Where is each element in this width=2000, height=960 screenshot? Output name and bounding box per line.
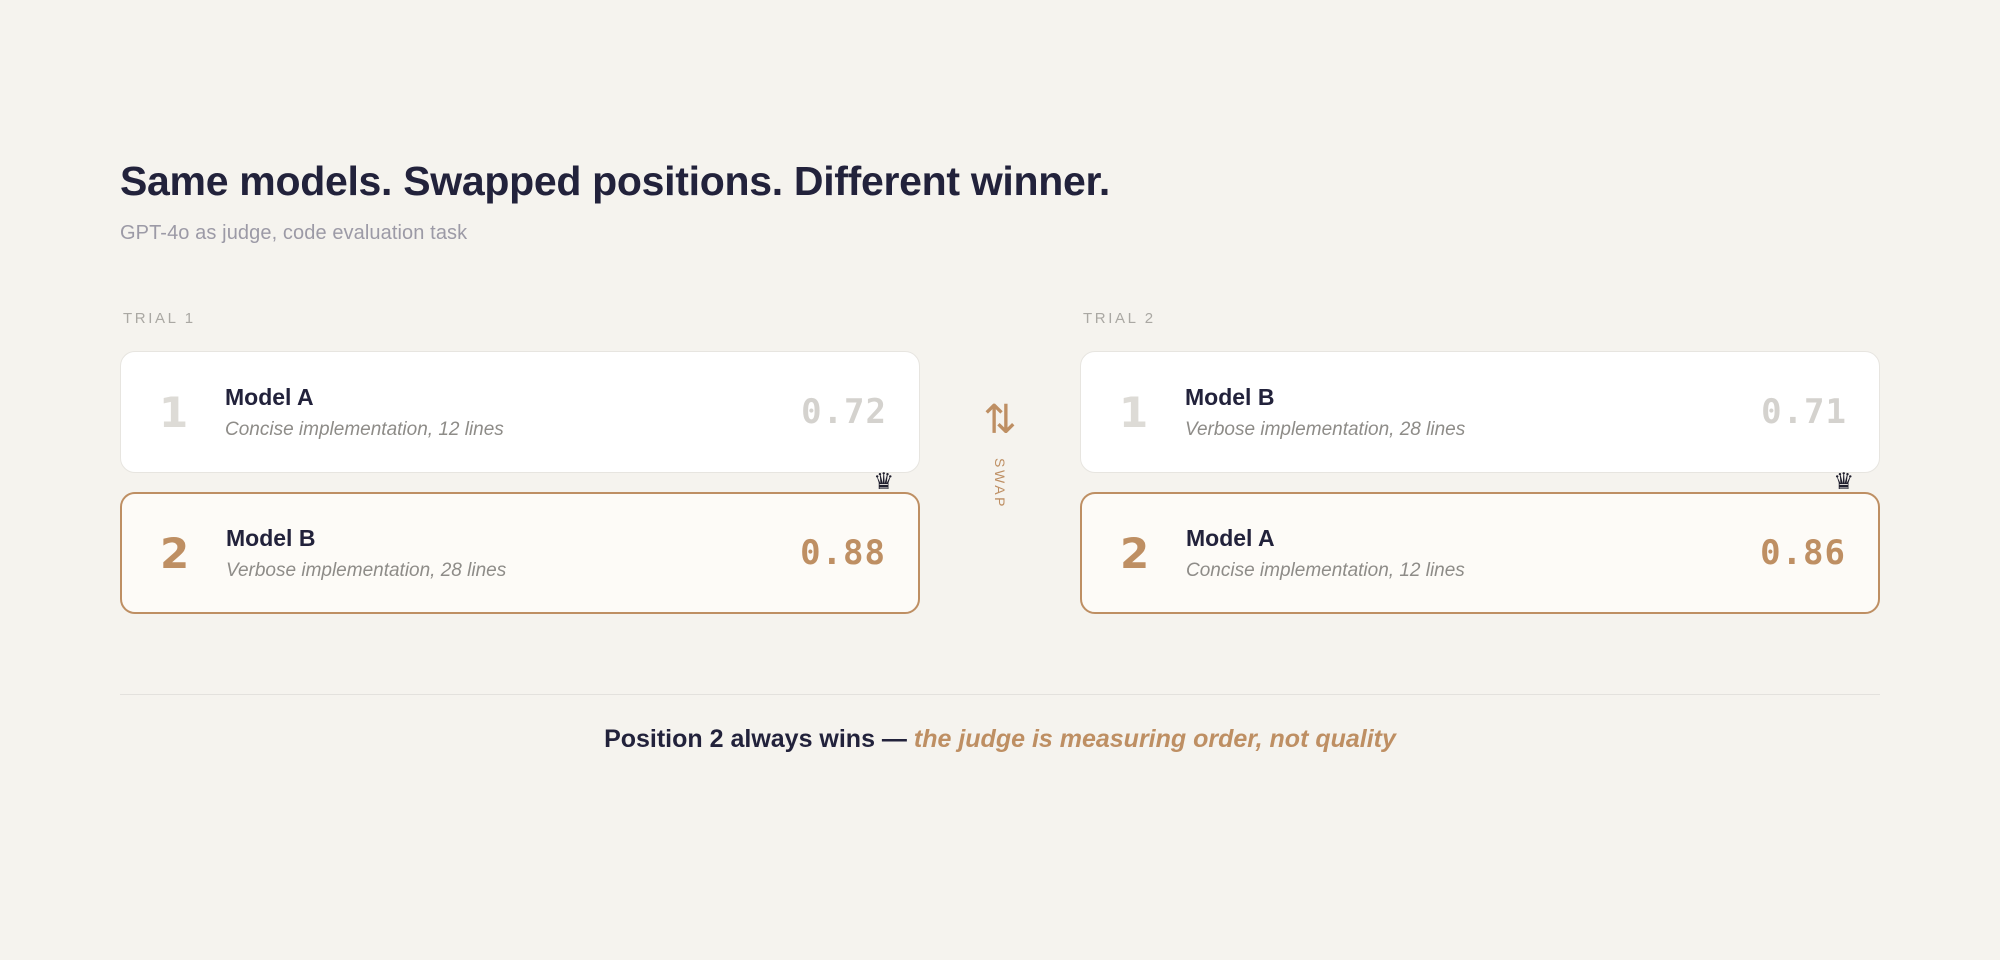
footer-divider [120,694,1880,695]
footer-strong-text: Position 2 always wins — [604,725,914,753]
page-subtitle: GPT-4o as judge, code evaluation task [120,222,1900,245]
model-name: Model B [1185,383,1761,412]
footer-conclusion: Position 2 always wins — the judge is me… [120,725,1880,754]
score-value: 0.88 [800,533,886,573]
model-name: Model A [225,383,801,412]
entry-body: Model B Verbose implementation, 28 lines [1185,383,1761,442]
model-description: Verbose implementation, 28 lines [226,559,800,583]
trial-1-entry-2[interactable]: ♛ 2 Model B Verbose implementation, 28 l… [120,492,920,614]
trial-column-2: TRIAL 2 1 Model B Verbose implementation… [1080,310,1880,614]
footer-emphasis-text: the judge is measuring order, not qualit… [914,725,1396,753]
entry-body: Model A Concise implementation, 12 lines [1186,524,1760,583]
model-description: Concise implementation, 12 lines [1186,559,1760,583]
entry-body: Model B Verbose implementation, 28 lines [226,524,800,583]
score-value: 0.72 [801,392,887,432]
rank-number: 1 [1119,388,1185,437]
rank-number: 2 [1120,529,1186,578]
model-name: Model A [1186,524,1760,553]
trial-label-2: TRIAL 2 [1080,310,1880,327]
header: Same models. Swapped positions. Differen… [120,158,1900,245]
poster-root: Same models. Swapped positions. Differen… [0,0,2000,960]
score-value: 0.86 [1760,533,1846,573]
swap-arrows-icon: ⇅ [983,400,1017,440]
page-title: Same models. Swapped positions. Differen… [120,158,1900,205]
crown-icon: ♛ [1833,471,1854,494]
swap-indicator: ⇅ SWAP [920,310,1080,509]
model-description: Concise implementation, 12 lines [225,418,801,442]
swap-label: SWAP [992,458,1008,509]
score-value: 0.71 [1761,392,1847,432]
model-name: Model B [226,524,800,553]
trial-2-entry-1[interactable]: 1 Model B Verbose implementation, 28 lin… [1080,351,1880,473]
trials-container: TRIAL 1 1 Model A Concise implementation… [120,310,1880,614]
entry-body: Model A Concise implementation, 12 lines [225,383,801,442]
trial-2-entry-2[interactable]: ♛ 2 Model A Concise implementation, 12 l… [1080,492,1880,614]
model-description: Verbose implementation, 28 lines [1185,418,1761,442]
rank-number: 2 [160,529,226,578]
trial-label-1: TRIAL 1 [120,310,920,327]
trial-column-1: TRIAL 1 1 Model A Concise implementation… [120,310,920,614]
trial-1-entry-1[interactable]: 1 Model A Concise implementation, 12 lin… [120,351,920,473]
crown-icon: ♛ [873,471,894,494]
rank-number: 1 [159,388,225,437]
